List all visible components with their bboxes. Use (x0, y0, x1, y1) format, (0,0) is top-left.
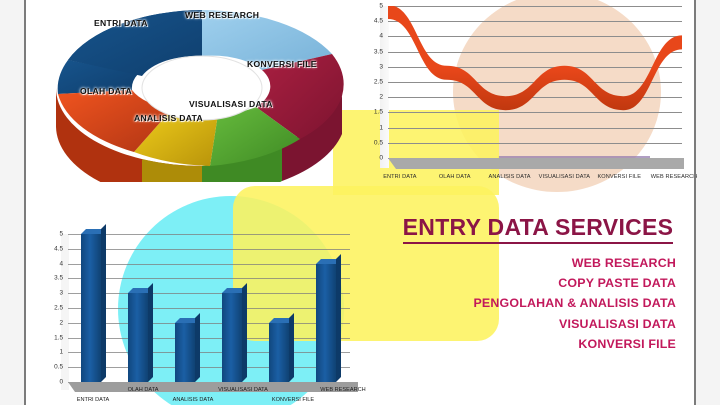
line-chart-series (388, 6, 682, 158)
bar-chart-y-axis: 00.511.522.533.544.55 (36, 234, 66, 382)
bar (175, 323, 195, 382)
x-axis-category-label: ANALISIS DATA (173, 397, 214, 403)
x-axis-category-label: ENTRI DATA (383, 174, 416, 180)
x-axis-category-label: KONVERSI FILE (272, 397, 314, 403)
bar-chart: 00.511.522.533.544.55 ENTRI DATAOLAH DAT… (24, 222, 372, 405)
y-tick-label: 5 (379, 3, 383, 10)
bar (81, 234, 101, 382)
y-tick-label: 0.5 (374, 139, 383, 146)
right-margin-bar (694, 0, 720, 405)
x-axis-category-label: WEB RESEARCH (651, 174, 698, 180)
line-chart-plot-area (388, 6, 682, 158)
bar (222, 293, 242, 382)
y-tick-label: 2.5 (54, 305, 63, 312)
x-axis-category-label: ANALISIS DATA (489, 174, 531, 180)
service-item: COPY PASTE DATA (388, 273, 676, 293)
bar-chart-x-axis-labels: ENTRI DATAOLAH DATAANALISIS DATAVISUALIS… (68, 385, 368, 405)
y-tick-label: 0 (379, 155, 383, 162)
y-tick-label: 2 (59, 319, 63, 326)
bar (128, 293, 148, 382)
service-item: WEB RESEARCH (388, 253, 676, 273)
services-list: WEB RESEARCHCOPY PASTE DATAPENGOLAHAN & … (388, 253, 680, 354)
y-tick-label: 1 (379, 124, 383, 131)
service-item: VISUALISASI DATA (388, 314, 676, 334)
right-border-rule (694, 0, 696, 405)
y-tick-label: 0 (59, 379, 63, 386)
x-axis-category-label: WEB RESEARCH (320, 387, 365, 393)
poster-canvas: ENTRI DATA WEB RESEARCH KONVERSI FILE VI… (0, 0, 720, 405)
bar (269, 323, 289, 382)
x-axis-category-label: OLAH DATA (128, 387, 159, 393)
bar-chart-bars (68, 234, 350, 382)
line-chart-floor (388, 158, 684, 169)
y-tick-label: 3 (379, 63, 383, 70)
y-tick-label: 2.5 (374, 79, 383, 86)
donut-chart: ENTRI DATA WEB RESEARCH KONVERSI FILE VI… (42, 0, 362, 182)
y-tick-label: 1.5 (54, 334, 63, 341)
line-chart-x-axis-labels: ENTRI DATAOLAH DATAANALISIS DATAVISUALIS… (388, 174, 686, 186)
left-border-rule (24, 0, 26, 405)
y-tick-label: 4 (379, 33, 383, 40)
service-item: PENGOLAHAN & ANALISIS DATA (388, 293, 676, 313)
y-tick-label: 4 (59, 260, 63, 267)
x-axis-category-label: ENTRI DATA (77, 397, 109, 403)
y-tick-label: 5 (59, 231, 63, 238)
bar-chart-plot-area (68, 234, 350, 382)
y-tick-label: 4.5 (54, 245, 63, 252)
left-margin-bar (0, 0, 24, 405)
x-axis-category-label: KONVERSI FILE (597, 174, 641, 180)
y-tick-label: 1.5 (374, 109, 383, 116)
x-axis-category-label: OLAH DATA (439, 174, 471, 180)
services-title: ENTRY DATA SERVICES (403, 214, 674, 244)
y-tick-label: 2 (379, 94, 383, 101)
x-axis-category-label: VISUALISASI DATA (218, 387, 268, 393)
line-chart-y-axis: 00.511.522.533.544.55 (356, 6, 386, 158)
donut-chart-svg (42, 0, 362, 182)
services-text-panel: ENTRY DATA SERVICES WEB RESEARCHCOPY PAS… (388, 214, 680, 354)
y-tick-label: 3.5 (374, 48, 383, 55)
bar (316, 264, 336, 382)
x-axis-category-label: VISUALISASI DATA (539, 174, 590, 180)
service-item: KONVERSI FILE (388, 334, 676, 354)
line-chart: 00.511.522.533.544.55 ENTRI DATAOLAH DAT… (356, 2, 694, 186)
y-tick-label: 3 (59, 290, 63, 297)
y-tick-label: 3.5 (54, 275, 63, 282)
y-tick-label: 1 (59, 349, 63, 356)
y-tick-label: 0.5 (54, 364, 63, 371)
y-tick-label: 4.5 (374, 18, 383, 25)
